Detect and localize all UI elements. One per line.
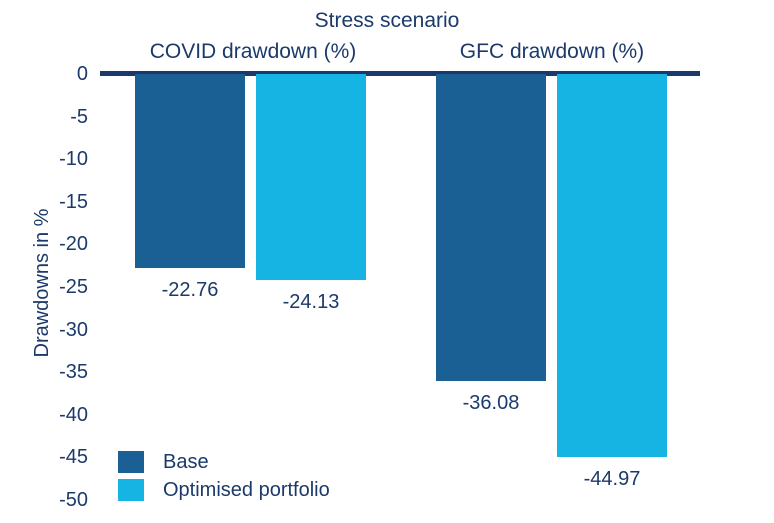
bar-value-label: -44.97 [547,469,677,489]
y-tick-label: -30 [36,320,88,340]
legend-color-swatch [118,451,144,473]
legend-item-optimised-portfolio[interactable]: Optimised portfolio [118,476,330,504]
bar [256,74,366,280]
y-axis-tick-labels: 0-5-10-15-20-25-30-35-40-45-50 [36,0,88,523]
drawdown-bar-chart: Stress scenario COVID drawdown (%) GFC d… [0,0,774,523]
legend-color-swatch [118,479,144,501]
bar-value-label: -22.76 [125,280,255,300]
legend-item-base[interactable]: Base [118,448,330,476]
y-tick-label: -40 [36,405,88,425]
legend-label: Base [163,452,209,472]
bar [436,74,546,381]
y-tick-label: -50 [36,490,88,510]
bar-value-label: -36.08 [426,393,556,413]
bar-value-label: -24.13 [246,292,376,312]
y-tick-label: -45 [36,447,88,467]
bar [135,74,245,268]
y-tick-label: -20 [36,234,88,254]
bar [557,74,667,457]
legend-label: Optimised portfolio [163,480,330,500]
y-tick-label: -5 [36,107,88,127]
y-tick-label: 0 [36,64,88,84]
y-tick-label: -10 [36,149,88,169]
y-tick-label: -35 [36,362,88,382]
plot-area: -22.76-24.13-36.08-44.97 [100,0,700,523]
y-tick-label: -25 [36,277,88,297]
legend: BaseOptimised portfolio [118,448,330,504]
y-tick-label: -15 [36,192,88,212]
